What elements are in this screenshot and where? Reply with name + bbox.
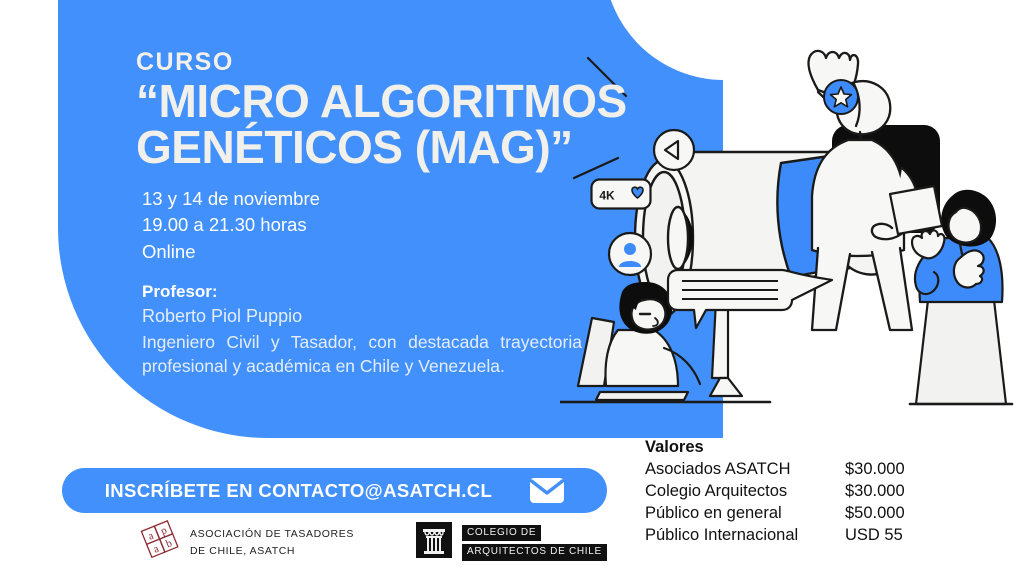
play-badge <box>652 128 696 177</box>
column-icon <box>416 522 452 563</box>
asatch-line-2: DE CHILE, ASATCH <box>190 543 354 559</box>
table-row: Asociados ASATCH $30.000 <box>645 459 905 481</box>
register-cta-label: INSCRÍBETE EN CONTACTO@ASATCH.CL <box>105 480 492 502</box>
asatch-logo-text: ASOCIACIÓN DE TASADORES DE CHILE, ASATCH <box>190 526 354 559</box>
register-cta-button[interactable]: INSCRÍBETE EN CONTACTO@ASATCH.CL <box>62 468 607 513</box>
colegio-line-2: ARQUITECTOS DE CHILE <box>462 544 607 561</box>
star-badge <box>822 78 860 121</box>
footer-logos: a p a b ASOCIACIÓN DE TASADORES DE CHILE… <box>140 520 607 565</box>
price-value: USD 55 <box>845 525 903 547</box>
svg-text:a: a <box>146 530 155 543</box>
instructor-bio: Ingeniero Civil y Tasador, con destacada… <box>142 330 582 380</box>
instructor-name: Roberto Piol Puppio <box>142 304 656 329</box>
svg-text:a: a <box>152 543 161 556</box>
price-label: Colegio Arquitectos <box>645 481 845 503</box>
colegio-arquitectos-logo: COLEGIO DE ARQUITECTOS DE CHILE <box>416 522 607 563</box>
price-label: Público Internacional <box>645 525 845 547</box>
price-table-title: Valores <box>645 436 905 458</box>
table-row: Público Internacional USD 55 <box>645 525 905 547</box>
colegio-line-1: COLEGIO DE <box>462 525 541 542</box>
asatch-mark-icon: a p a b <box>140 520 180 565</box>
page-title: “MICRO ALGORITMOS GENÉTICOS (MAG)” <box>136 79 656 170</box>
price-table: Valores Asociados ASATCH $30.000 Colegio… <box>645 436 905 547</box>
person-reading-document <box>890 186 1012 404</box>
svg-text:b: b <box>164 537 174 550</box>
instructor-label: Profesor: <box>142 279 656 305</box>
price-label: Público en general <box>645 503 845 525</box>
price-value: $30.000 <box>845 459 905 481</box>
price-label: Asociados ASATCH <box>645 459 845 481</box>
price-value: $50.000 <box>845 503 905 525</box>
asatch-line-1: ASOCIACIÓN DE TASADORES <box>190 526 354 542</box>
envelope-icon <box>530 478 564 503</box>
colegio-logo-text: COLEGIO DE ARQUITECTOS DE CHILE <box>462 525 607 561</box>
price-value: $30.000 <box>845 481 905 503</box>
course-kicker: CURSO <box>136 50 656 75</box>
svg-text:p: p <box>159 524 169 537</box>
asatch-logo: a p a b ASOCIACIÓN DE TASADORES DE CHILE… <box>140 520 354 565</box>
course-details: 13 y 14 de noviembre 19.00 a 21.30 horas… <box>142 186 656 265</box>
course-time: 19.00 a 21.30 horas <box>142 212 656 238</box>
poster-canvas: 4K CURSO “MICRO ALGORITMOS GENÉTICOS (MA… <box>0 0 1024 576</box>
table-row: Colegio Arquitectos $30.000 <box>645 481 905 503</box>
course-dates: 13 y 14 de noviembre <box>142 186 656 212</box>
speech-bubble <box>668 270 832 328</box>
course-text-block: CURSO “MICRO ALGORITMOS GENÉTICOS (MAG)”… <box>136 50 656 379</box>
course-modality: Online <box>142 239 656 265</box>
table-row: Público en general $50.000 <box>645 503 905 525</box>
